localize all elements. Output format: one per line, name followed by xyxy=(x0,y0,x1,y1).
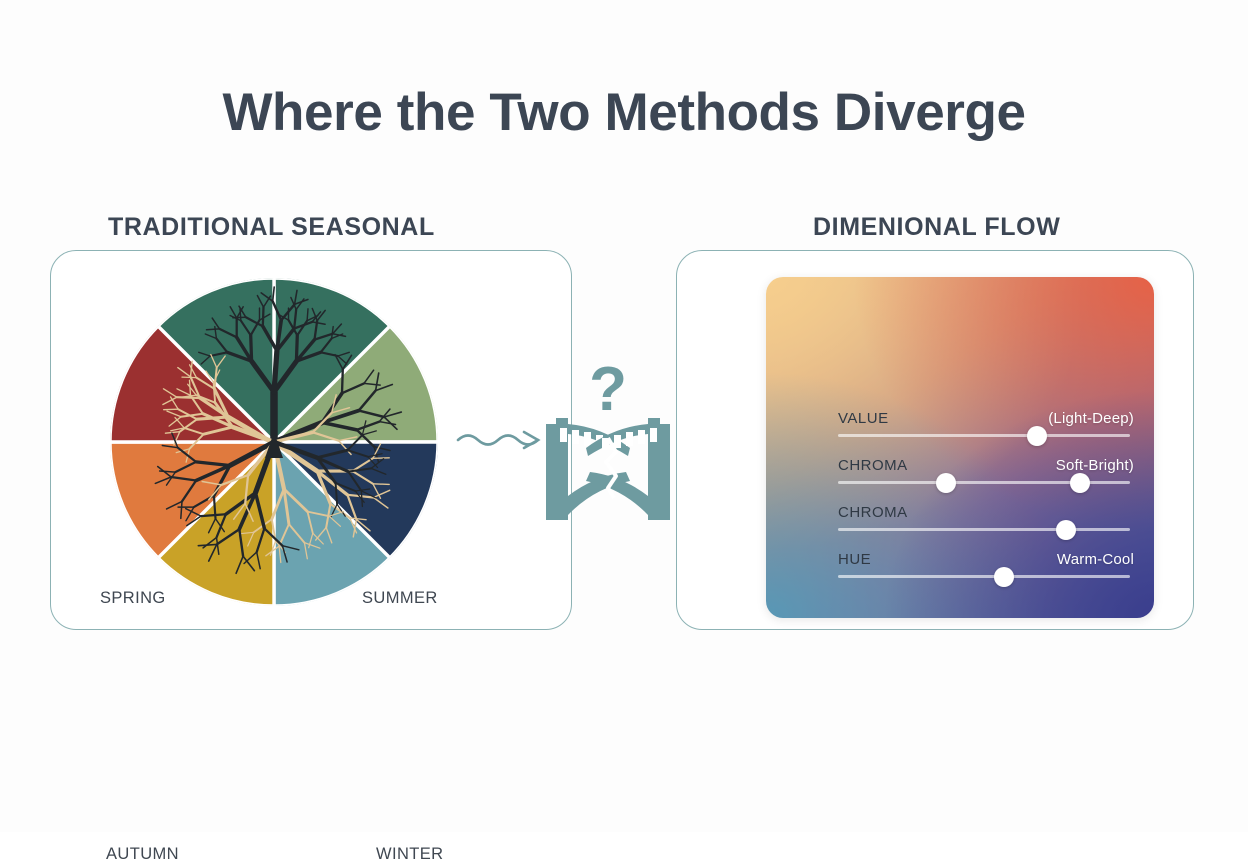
summer-label: SUMMER xyxy=(362,589,438,608)
branch-stroke xyxy=(177,397,200,398)
slider-row[interactable]: CHROMA xyxy=(838,504,1130,551)
dimension-slider-group: VALUE(Light-Deep)CHROMASoft-Bright)CHROM… xyxy=(838,410,1130,598)
slider-row[interactable]: CHROMASoft-Bright) xyxy=(838,457,1130,504)
branch-stroke xyxy=(296,335,297,361)
slider-track[interactable] xyxy=(838,575,1130,578)
slider-value-text: Warm-Cool xyxy=(1057,551,1134,568)
slider-knob[interactable] xyxy=(1027,426,1047,446)
branch-stroke xyxy=(307,309,308,321)
slider-knob[interactable] xyxy=(936,473,956,493)
slider-row[interactable]: VALUE(Light-Deep) xyxy=(838,410,1130,457)
branch-stroke xyxy=(207,329,220,330)
branch-stroke xyxy=(373,458,389,459)
slider-label: HUE xyxy=(838,551,871,568)
slider-knob[interactable] xyxy=(1056,520,1076,540)
slider-value-text: (Light-Deep) xyxy=(1048,410,1134,427)
branch-stroke xyxy=(263,307,264,326)
slider-track[interactable] xyxy=(838,528,1130,531)
canvas: Where the Two Methods Diverge TRADITIONA… xyxy=(0,0,1248,832)
slider-knob[interactable] xyxy=(1070,473,1090,493)
branch-stroke xyxy=(182,377,196,378)
winter-label: WINTER xyxy=(376,845,443,864)
spring-label: SPRING xyxy=(100,589,166,608)
question-mark-icon: ? xyxy=(589,355,627,424)
branch-stroke xyxy=(373,484,389,485)
slider-value-text: Soft-Bright) xyxy=(1056,457,1134,474)
branch-stroke xyxy=(342,369,343,393)
branch-stroke xyxy=(164,409,179,410)
season-wheel[interactable]: SPRING SUMMER AUTUMN WINTER xyxy=(104,275,444,609)
slider-row[interactable]: HUEWarm-Cool xyxy=(838,551,1130,598)
page-title: Where the Two Methods Diverge xyxy=(0,82,1248,143)
autumn-label: AUTUMN xyxy=(106,845,179,864)
slider-label: CHROMA xyxy=(838,457,908,474)
slider-knob[interactable] xyxy=(994,567,1014,587)
slider-track[interactable] xyxy=(838,434,1130,437)
dimensional-gradient-card: VALUE(Light-Deep)CHROMASoft-Bright)CHROM… xyxy=(766,277,1154,618)
branch-stroke xyxy=(274,351,277,392)
season-wheel-graphic xyxy=(104,275,444,609)
slider-label: CHROMA xyxy=(838,504,908,521)
squiggly-arrow-icon xyxy=(458,432,538,448)
right-column-heading: DIMENIONAL FLOW xyxy=(813,213,1060,242)
left-column-heading: TRADITIONAL SEASONAL xyxy=(108,213,435,242)
slider-label: VALUE xyxy=(838,410,889,427)
